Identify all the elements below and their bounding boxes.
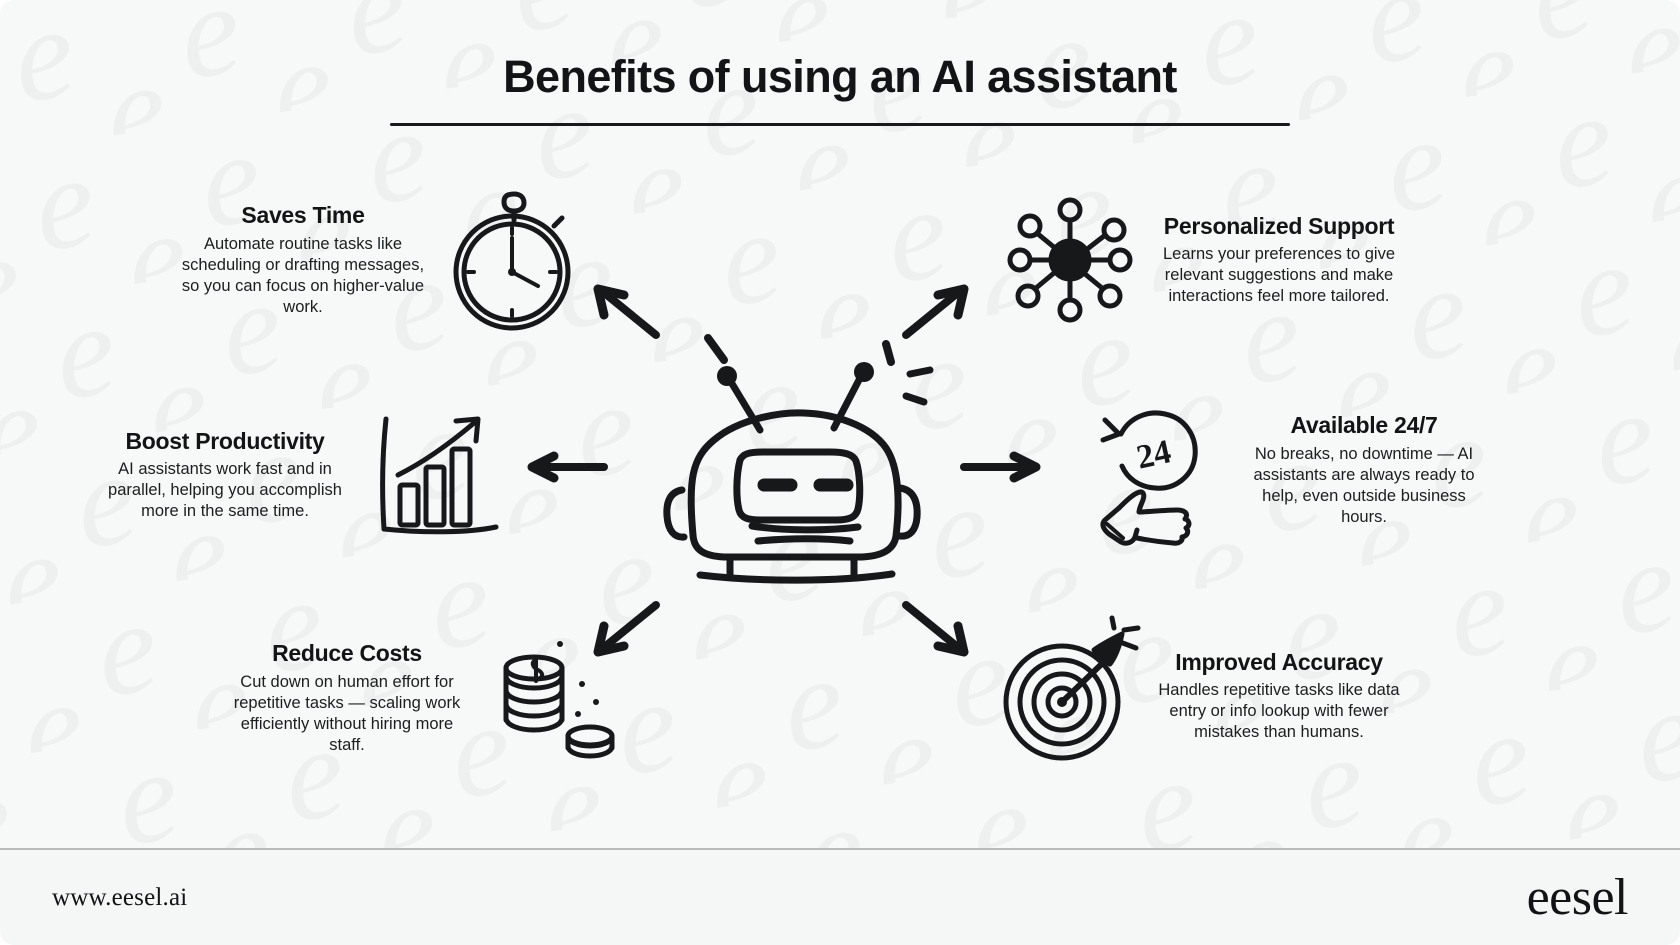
benefit-description: Cut down on human effort for repetitive … xyxy=(222,672,472,756)
benefit-item-saves-time: Saves Time Automate routine tasks like s… xyxy=(178,190,582,330)
arrow-right-icon xyxy=(960,452,1040,482)
benefit-text-boost-productivity: Boost Productivity AI assistants work fa… xyxy=(100,428,350,523)
page-title: Benefits of using an AI assistant xyxy=(0,52,1680,102)
stopwatch-icon xyxy=(442,190,582,330)
robot-icon xyxy=(648,330,938,580)
eesel-logo: eesel xyxy=(1527,872,1628,924)
benefit-item-boost-productivity: Boost Productivity AI assistants work fa… xyxy=(100,405,504,545)
benefit-item-personalized-support: Personalized Support Learns your prefere… xyxy=(1000,190,1404,330)
benefit-description: Handles repetitive tasks like data entry… xyxy=(1154,680,1404,743)
benefit-text-personalized-support: Personalized Support Learns your prefere… xyxy=(1154,213,1404,308)
clock-24-thumbs-up-icon: 24 xyxy=(1085,400,1225,540)
arrow-down-right-icon xyxy=(900,600,970,655)
bar-chart-growth-icon xyxy=(364,405,504,545)
arrow-up-right-icon xyxy=(900,285,970,340)
title-block: Benefits of using an AI assistant xyxy=(0,52,1680,126)
benefit-title: Saves Time xyxy=(178,202,428,228)
arrow-left-icon xyxy=(528,452,608,482)
benefit-title: Available 24/7 xyxy=(1239,412,1489,438)
network-node-icon xyxy=(1000,190,1140,330)
title-divider xyxy=(390,123,1290,126)
benefit-text-improved-accuracy: Improved Accuracy Handles repetitive tas… xyxy=(1154,649,1404,744)
arrow-up-left-icon xyxy=(592,285,662,340)
content-stage: Benefits of using an AI assistant xyxy=(0,0,1680,848)
clock-24-label: 24 xyxy=(1133,433,1174,476)
benefit-text-reduce-costs: Reduce Costs Cut down on human effort fo… xyxy=(222,640,472,756)
target-dart-icon xyxy=(1000,626,1140,766)
benefit-title: Personalized Support xyxy=(1154,213,1404,239)
benefit-description: Learns your preferences to give relevant… xyxy=(1154,244,1404,307)
benefit-title: Improved Accuracy xyxy=(1154,649,1404,675)
benefit-item-available-24-7: 24 Available 24/7 No breaks, no downtime… xyxy=(1085,400,1489,540)
benefit-title: Boost Productivity xyxy=(100,428,350,454)
benefit-text-saves-time: Saves Time Automate routine tasks like s… xyxy=(178,202,428,318)
benefit-description: No breaks, no downtime — AI assistants a… xyxy=(1239,444,1489,528)
coin-stack-icon xyxy=(486,628,626,768)
benefit-description: AI assistants work fast and in parallel,… xyxy=(100,459,350,522)
footer-url[interactable]: www.eesel.ai xyxy=(52,884,187,912)
benefit-item-improved-accuracy: Improved Accuracy Handles repetitive tas… xyxy=(1000,626,1404,766)
infographic-card: e e Benefits of using an AI assistant xyxy=(0,0,1680,945)
footer-bar: www.eesel.ai eesel xyxy=(0,848,1680,945)
benefit-item-reduce-costs: Reduce Costs Cut down on human effort fo… xyxy=(222,628,626,768)
benefit-title: Reduce Costs xyxy=(222,640,472,666)
benefit-text-available-24-7: Available 24/7 No breaks, no downtime — … xyxy=(1239,412,1489,528)
benefit-description: Automate routine tasks like scheduling o… xyxy=(178,234,428,318)
